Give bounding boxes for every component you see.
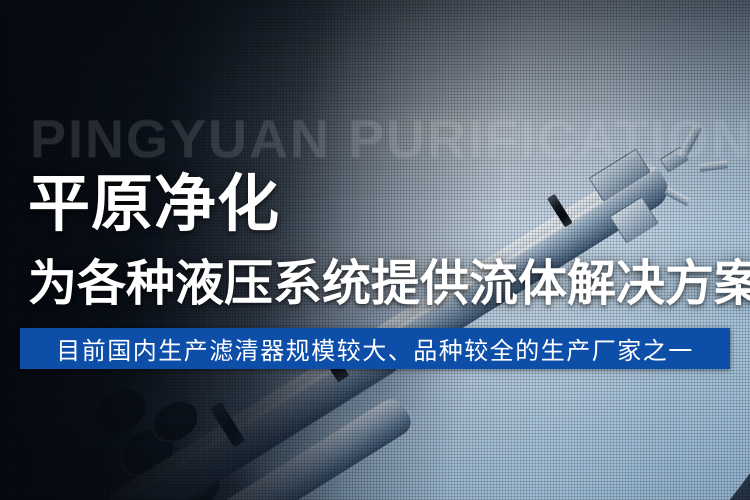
- page-title: 平原净化: [28, 172, 280, 237]
- callout-bar-text: 目前国内生产滤清器规模较大、品种较全的生产厂家之一: [56, 331, 694, 366]
- halftone-dot-overlay: [0, 0, 750, 500]
- callout-bar: 目前国内生产滤清器规模较大、品种较全的生产厂家之一: [20, 328, 730, 369]
- watermark-text: PINGYUAN PURIFICATION: [30, 112, 750, 166]
- hero-banner: PINGYUAN PURIFICATION 平原净化 为各种液压系统提供流体解决…: [0, 0, 750, 500]
- page-subtitle: 为各种液压系统提供流体解决方案: [28, 258, 750, 311]
